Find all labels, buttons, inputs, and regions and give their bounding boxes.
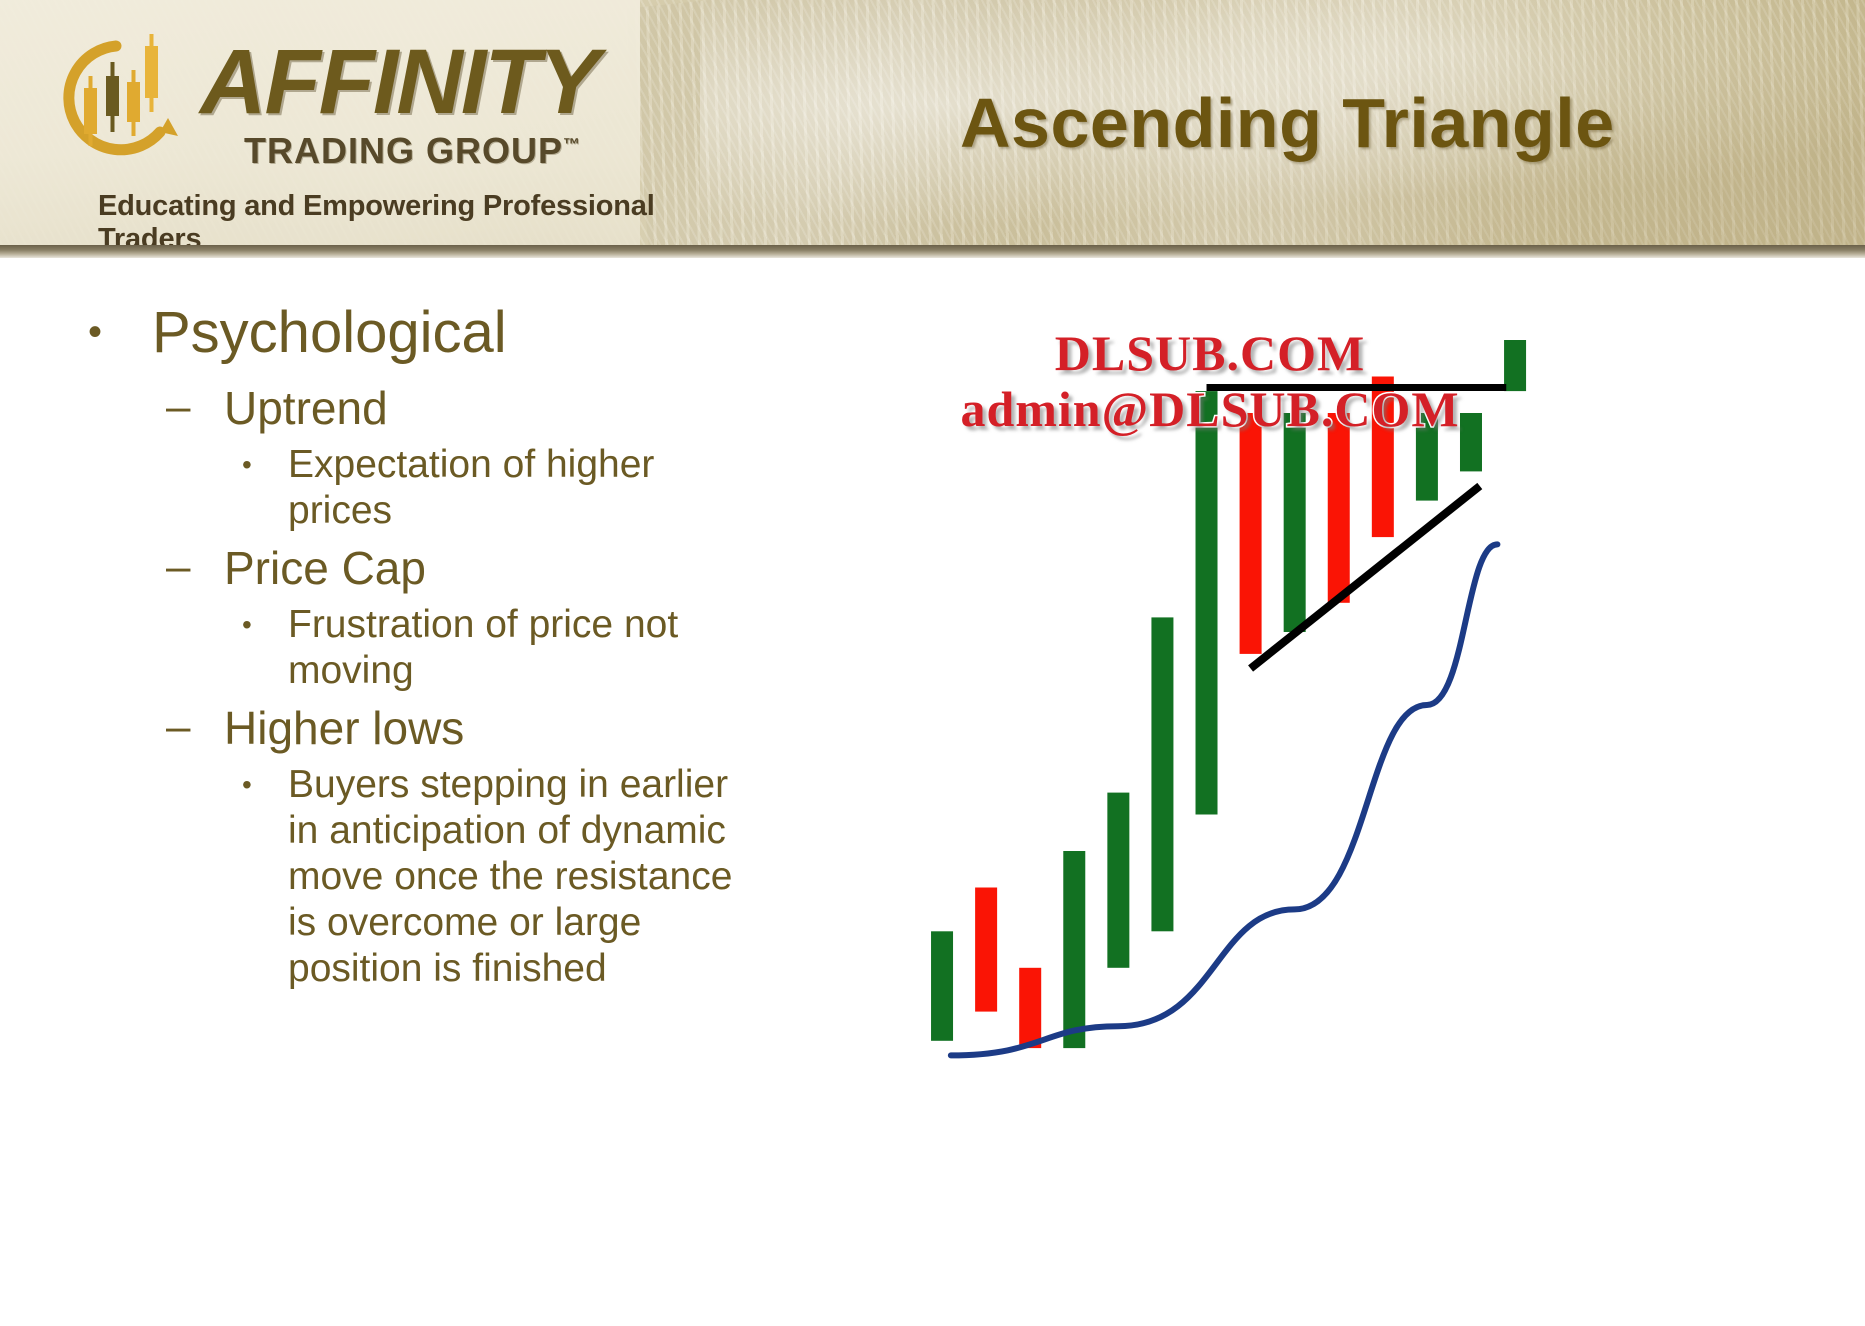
chart-canvas <box>900 330 1600 1090</box>
bullet-item-frustration-of-price-not-moving: • Frustration of price not moving <box>70 602 900 694</box>
bullet-text: Buyers stepping in earlier in anticipati… <box>288 762 758 992</box>
bullet-list: • Psychological – Uptrend • Expectation … <box>70 300 900 998</box>
header-divider <box>0 245 1865 258</box>
candle-down <box>1240 413 1262 654</box>
dash-marker-icon: – <box>166 380 224 434</box>
candle-down <box>1372 377 1394 538</box>
ascending-triangle-chart <box>900 330 1600 1090</box>
bullet-marker-icon: • <box>70 300 152 364</box>
candle-up <box>1151 617 1173 931</box>
candle-down <box>1019 968 1041 1048</box>
bullet-marker-icon: • <box>242 442 288 488</box>
company-logo: AFFINITY TRADING GROUP™ Educating and Em… <box>48 22 668 202</box>
candle-up <box>1284 413 1306 632</box>
bullet-text: Higher lows <box>224 700 464 756</box>
bullet-text: Psychological <box>152 300 507 366</box>
bullet-item-uptrend: – Uptrend <box>70 380 900 436</box>
dash-marker-icon: – <box>166 700 224 754</box>
candle-up <box>1504 340 1526 391</box>
logo-brand-text: AFFINITY <box>200 36 598 128</box>
candle-down <box>1328 413 1350 603</box>
candle-series <box>931 340 1526 1048</box>
candle-up <box>1107 793 1129 968</box>
bullet-item-expectation-of-higher-prices: • Expectation of higher prices <box>70 442 900 534</box>
bullet-item-psychological: • Psychological <box>70 300 900 366</box>
bullet-marker-icon: • <box>242 602 288 648</box>
trademark-icon: ™ <box>563 135 581 154</box>
candle-up <box>1460 413 1482 471</box>
bullet-item-buyers-stepping-in: • Buyers stepping in earlier in anticipa… <box>70 762 900 992</box>
logo-subbrand-text: TRADING GROUP™ <box>244 130 581 172</box>
bullet-item-higher-lows: – Higher lows <box>70 700 900 756</box>
slide-header: AFFINITY TRADING GROUP™ Educating and Em… <box>0 0 1865 258</box>
bullet-text: Price Cap <box>224 540 426 596</box>
page-title: Ascending Triangle <box>960 86 1720 160</box>
candle-down <box>975 888 997 1012</box>
bullet-text: Uptrend <box>224 380 388 436</box>
logo-subbrand-label: TRADING GROUP <box>244 130 563 171</box>
candle-up <box>1196 391 1218 814</box>
candlestick-swoosh-logo-mark-icon <box>56 32 196 164</box>
bullet-text: Expectation of higher prices <box>288 442 758 534</box>
candle-up <box>931 931 953 1041</box>
bullet-text: Frustration of price not moving <box>288 602 758 694</box>
bullet-item-price-cap: – Price Cap <box>70 540 900 596</box>
dash-marker-icon: – <box>166 540 224 594</box>
candle-up <box>1416 413 1438 501</box>
candle-up <box>1063 851 1085 1048</box>
bullet-marker-icon: • <box>242 762 288 808</box>
